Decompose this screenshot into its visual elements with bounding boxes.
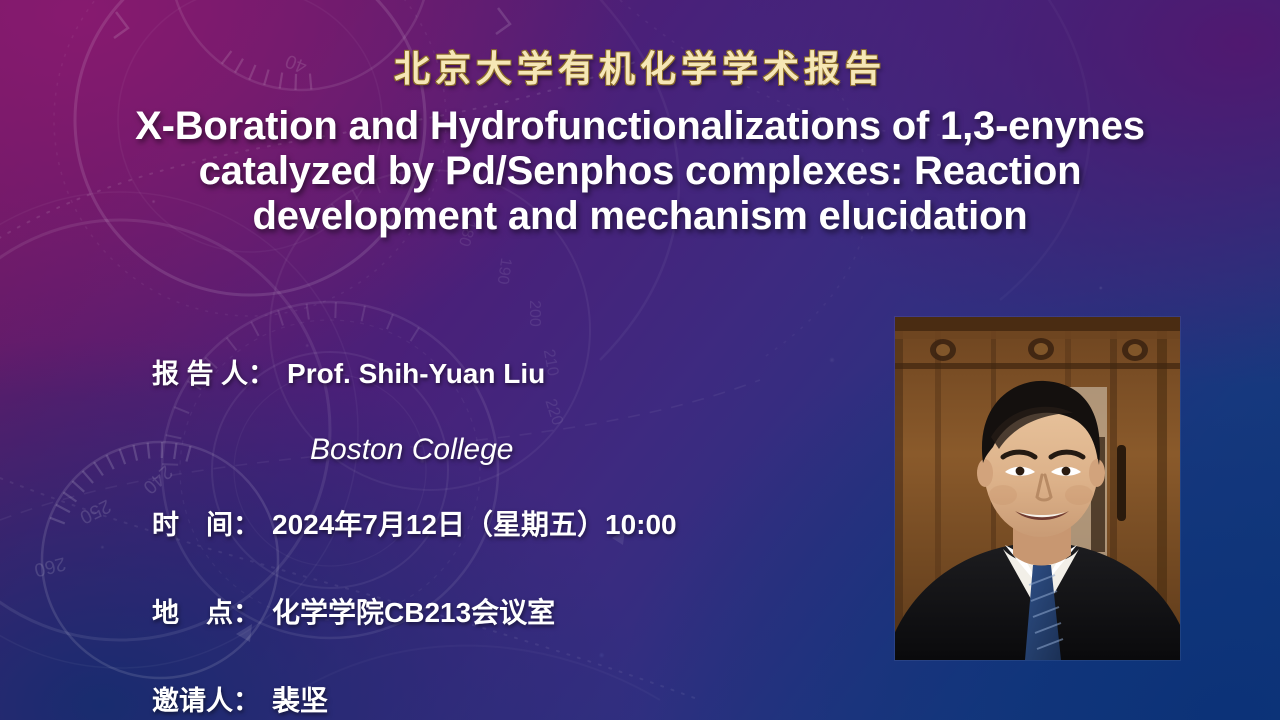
time-value: 2024年7月12日（星期五）10:00	[272, 503, 677, 543]
detail-row-time: 时 间： 2024年7月12日（星期五）10:00	[152, 503, 892, 543]
organization-header: 北京大学有机化学学术报告	[0, 40, 1280, 92]
seminar-details: 报 告 人： Prof. Shih-Yuan Liu Boston Colleg…	[152, 352, 892, 719]
detail-row-affiliation: Boston College	[152, 433, 892, 467]
detail-row-host: 邀请人： 裴坚	[152, 679, 892, 719]
page-title: X-Boration and Hydrofunctionalizations o…	[36, 104, 1244, 240]
title-line-3: development and mechanism elucidation	[36, 194, 1244, 239]
time-label: 时 间：	[152, 503, 260, 542]
detail-row-speaker: 报 告 人： Prof. Shih-Yuan Liu	[152, 352, 892, 391]
location-value: 化学学院CB213会议室	[272, 591, 555, 631]
host-label: 邀请人：	[152, 679, 260, 718]
speaker-photo	[895, 317, 1180, 660]
location-label: 地 点：	[152, 591, 260, 630]
title-line-1: X-Boration and Hydrofunctionalizations o…	[36, 104, 1244, 149]
seminar-poster: 260 250 240 40	[0, 0, 1280, 720]
detail-row-location: 地 点： 化学学院CB213会议室	[152, 591, 892, 631]
title-line-2: catalyzed by Pd/Senphos complexes: React…	[36, 149, 1244, 194]
host-name: 裴坚	[272, 679, 328, 719]
speaker-label: 报 告 人：	[152, 352, 275, 391]
speaker-name: Prof. Shih-Yuan Liu	[287, 358, 545, 390]
speaker-affiliation: Boston College	[310, 433, 513, 467]
poster-content: 北京大学有机化学学术报告 X-Boration and Hydrofunctio…	[0, 0, 1280, 720]
